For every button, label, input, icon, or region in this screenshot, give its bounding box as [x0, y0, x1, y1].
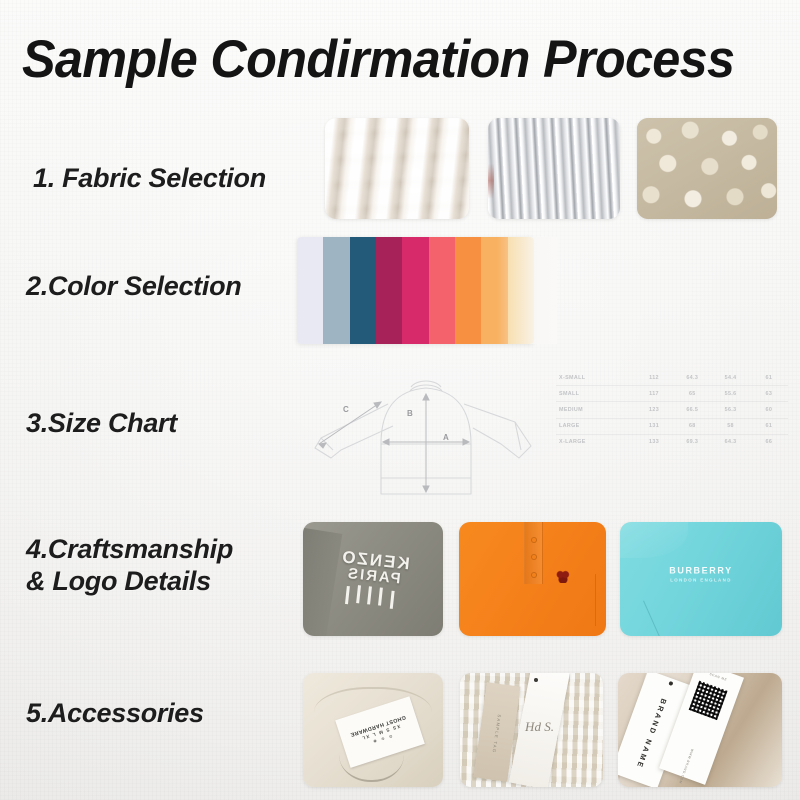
- size-value: 123: [635, 402, 673, 418]
- color-swatch-coral-red: [429, 237, 455, 344]
- qr-code-icon: [689, 681, 728, 720]
- step-label-color-selection: 2.Color Selection: [26, 270, 241, 302]
- size-value: 63: [750, 386, 788, 402]
- color-swatch-pale-lavender: [297, 237, 323, 344]
- orange-polo-background: [459, 522, 606, 636]
- size-value: 61: [750, 370, 788, 386]
- polo-button: [531, 537, 537, 543]
- color-palette-strip: [297, 237, 534, 344]
- size-name: X-LARGE: [556, 434, 635, 450]
- sweater-diagram-svg: A B C: [303, 366, 551, 506]
- accessory-photo-qr-hang-tag: BRAND NAME SCAN ME WWW.BRAND.COM: [618, 673, 782, 787]
- size-value: 66.5: [673, 402, 711, 418]
- gray-garment-background: KENZO PARIS: [303, 522, 443, 636]
- polo-button: [531, 554, 537, 560]
- size-name: LARGE: [556, 418, 635, 434]
- measure-letter-c: C: [343, 405, 349, 414]
- accessory-photo-hang-tags: SAMPLE TAG Hd S.: [460, 673, 603, 787]
- size-value: 68: [673, 418, 711, 434]
- infographic-page: Sample Condirmation Process 1. Fabric Se…: [0, 0, 800, 800]
- screen-print-logo: KENZO PARIS: [336, 548, 411, 610]
- color-swatch-deep-teal-blue: [350, 237, 376, 344]
- size-value: 61: [750, 418, 788, 434]
- size-value: 54.4: [711, 370, 749, 386]
- size-value: 64.3: [673, 370, 711, 386]
- size-value: 58: [711, 418, 749, 434]
- accessory-photo-care-label: GHOST HARDWARE XS S M L XL ⚙ ⊕ ◉: [303, 673, 443, 787]
- step-label-fabric-selection: 1. Fabric Selection: [33, 162, 266, 194]
- qr-tag-side-text: WWW.BRAND.COM: [678, 748, 694, 784]
- size-value: 55.6: [711, 386, 749, 402]
- craft-photo-turquoise-tee: BURBERRY LONDON ENGLAND: [620, 522, 782, 636]
- cream-hoodie-background: GHOST HARDWARE XS S M L XL ⚙ ⊕ ◉: [303, 673, 443, 787]
- size-chart-table: X-SMALL 112 64.3 54.4 61 SMALL 117 65 55…: [556, 370, 788, 498]
- size-name: MEDIUM: [556, 402, 635, 418]
- craft-photo-orange-polo: [459, 522, 606, 636]
- color-swatch-pink-magenta: [402, 237, 428, 344]
- table-row: LARGE 131 68 58 61: [556, 418, 788, 434]
- size-name: X-SMALL: [556, 370, 635, 386]
- size-value: 112: [635, 370, 673, 386]
- size-value: 117: [635, 386, 673, 402]
- print-rays-icon: [343, 583, 399, 609]
- shoulder-highlight: [620, 522, 688, 558]
- table-row: SMALL 117 65 55.6 63: [556, 386, 788, 402]
- size-value: 64.3: [711, 434, 749, 450]
- tag-punch-hole: [668, 681, 673, 686]
- folded-fabric-background: BRAND NAME SCAN ME WWW.BRAND.COM: [618, 673, 782, 787]
- fabric-swatch-wavy-textile: [488, 118, 620, 219]
- size-name: SMALL: [556, 386, 635, 402]
- table-row: X-SMALL 112 64.3 54.4 61: [556, 370, 788, 386]
- measure-letter-b: B: [407, 409, 413, 418]
- brand-subtext: LONDON ENGLAND: [669, 578, 732, 583]
- fabric-swatch-boucle: [637, 118, 777, 219]
- table-row: X-LARGE 133 69.3 64.3 66: [556, 434, 788, 450]
- craft-photo-kenzo-print: KENZO PARIS: [303, 522, 443, 636]
- knitwear-background: SAMPLE TAG Hd S.: [460, 673, 603, 787]
- size-value: 60: [750, 402, 788, 418]
- measure-letter-a: A: [443, 433, 449, 442]
- size-value: 56.3: [711, 402, 749, 418]
- color-swatch-light-blue-gray: [323, 237, 349, 344]
- color-swatch-crimson-magenta: [376, 237, 402, 344]
- printed-brand-logo: BURBERRY LONDON ENGLAND: [669, 566, 732, 583]
- step-label-accessories: 5.Accessories: [26, 697, 204, 729]
- step-label-size-chart: 3.Size Chart: [26, 407, 177, 439]
- sleeve-seam: [595, 574, 596, 625]
- color-swatch-orange: [455, 237, 481, 344]
- size-value: 69.3: [673, 434, 711, 450]
- embroidered-crest-icon: [556, 570, 570, 583]
- chunky-knit-texture: [325, 118, 469, 219]
- color-swatch-pale-peach: [508, 237, 534, 344]
- boucle-texture: [637, 118, 777, 219]
- sweater-technical-drawing: A B C: [303, 366, 551, 506]
- tag-punch-hole: [534, 678, 538, 682]
- size-value: 65: [673, 386, 711, 402]
- size-value: 131: [635, 418, 673, 434]
- hang-tag-side-text: SAMPLE TAG: [492, 714, 502, 754]
- size-value: 133: [635, 434, 673, 450]
- brand-text: BURBERRY: [669, 566, 732, 576]
- hang-tag-signature: Hd S.: [525, 720, 554, 736]
- qr-tag-top-text: SCAN ME: [709, 673, 728, 682]
- page-title: Sample Condirmation Process: [22, 30, 754, 90]
- fabric-swatch-chunky-knit: [325, 118, 469, 219]
- wavy-textile-texture: [488, 118, 620, 219]
- step-label-craftsmanship-logo-details: 4.Craftsmanship & Logo Details: [26, 533, 233, 597]
- table-row: MEDIUM 123 66.5 56.3 60: [556, 402, 788, 418]
- turquoise-tee-background: BURBERRY LONDON ENGLAND: [620, 522, 782, 636]
- size-value: 66: [750, 434, 788, 450]
- color-swatch-light-orange: [481, 237, 507, 344]
